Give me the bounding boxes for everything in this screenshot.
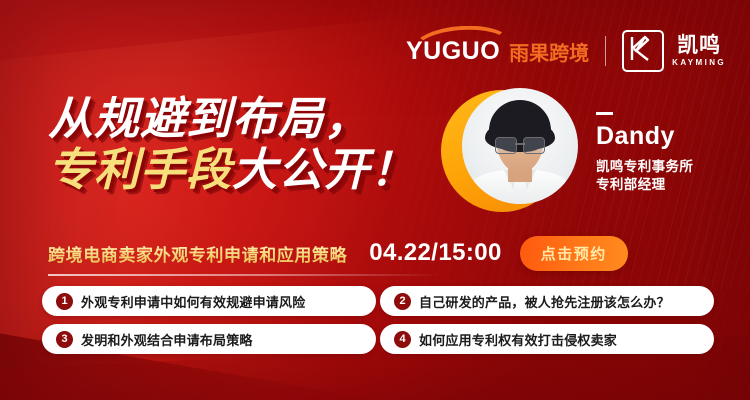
glasses-lens-left bbox=[495, 137, 517, 154]
topic-item-2[interactable]: 2 自己研发的产品，被人抢先注册该怎么办？ bbox=[380, 286, 714, 316]
brand-logo-kayming[interactable]: 凯鸣 KAYMING bbox=[622, 30, 726, 72]
topic-number-1: 1 bbox=[56, 293, 73, 310]
headline-line-2-white: 大公开！ bbox=[232, 143, 416, 196]
headline-line-2-gold: 专利手段 bbox=[48, 143, 232, 196]
topic-label-3: 发明和外观结合申请布局策略 bbox=[81, 330, 253, 349]
partner-logo-cn: 雨果跨境 bbox=[509, 43, 589, 64]
webinar-promo-banner: YUGUO 雨果跨境 凯鸣 KAYMING 从规避到布局， 专利手段大公开！ bbox=[0, 0, 750, 400]
speaker-organization: 凯鸣专利事务所 bbox=[596, 158, 693, 176]
speaker-dash-rule bbox=[596, 112, 613, 115]
topic-item-4[interactable]: 4 如何应用专利权有效打击侵权卖家 bbox=[380, 324, 714, 354]
subtitle-text: 跨境电商卖家外观专利申请和应用策略 bbox=[48, 241, 347, 266]
headline-line-2: 专利手段大公开！ bbox=[48, 147, 416, 192]
logo-row: YUGUO 雨果跨境 凯鸣 KAYMING bbox=[406, 30, 726, 72]
glasses-lens-right bbox=[523, 137, 545, 154]
topic-label-1: 外观专利申请中如何有效规避申请风险 bbox=[81, 292, 305, 311]
logo-divider bbox=[605, 36, 606, 66]
headline: 从规避到布局， 专利手段大公开！ bbox=[48, 96, 416, 192]
topic-list: 1 外观专利申请中如何有效规避申请风险 2 自己研发的产品，被人抢先注册该怎么办… bbox=[42, 286, 714, 354]
topic-label-4: 如何应用专利权有效打击侵权卖家 bbox=[419, 330, 617, 349]
kayming-k-mark-icon bbox=[622, 30, 664, 72]
subtitle-bar: 跨境电商卖家外观专利申请和应用策略 04.22/15:00 点击预约 bbox=[48, 236, 708, 270]
book-now-button[interactable]: 点击预约 bbox=[520, 236, 628, 271]
topic-number-3: 3 bbox=[56, 331, 73, 348]
subtitle-divider bbox=[48, 274, 440, 276]
partner-logo-yuguo[interactable]: YUGUO 雨果跨境 bbox=[406, 39, 589, 64]
topic-item-1[interactable]: 1 外观专利申请中如何有效规避申请风险 bbox=[42, 286, 376, 316]
speaker-role: 专利部经理 bbox=[596, 176, 693, 194]
speaker-info: Dandy 凯鸣专利事务所 专利部经理 bbox=[596, 112, 693, 194]
speaker-portrait bbox=[452, 88, 578, 214]
arc-swoosh-icon bbox=[412, 26, 504, 44]
topic-label-2: 自己研发的产品，被人抢先注册该怎么办？ bbox=[419, 292, 670, 311]
brand-logo-en: KAYMING bbox=[672, 59, 726, 67]
headline-line-1: 从规避到布局， bbox=[48, 96, 416, 141]
topic-item-3[interactable]: 3 发明和外观结合申请布局策略 bbox=[42, 324, 376, 354]
topic-number-2: 2 bbox=[394, 293, 411, 310]
portrait-photo bbox=[462, 88, 578, 204]
brand-logo-cn: 凯鸣 bbox=[677, 35, 721, 56]
event-datetime: 04.22/15:00 bbox=[369, 239, 502, 267]
brand-logo-text: 凯鸣 KAYMING bbox=[672, 35, 726, 67]
speaker-name: Dandy bbox=[596, 124, 693, 149]
glasses-icon bbox=[495, 137, 545, 152]
topic-number-4: 4 bbox=[394, 331, 411, 348]
